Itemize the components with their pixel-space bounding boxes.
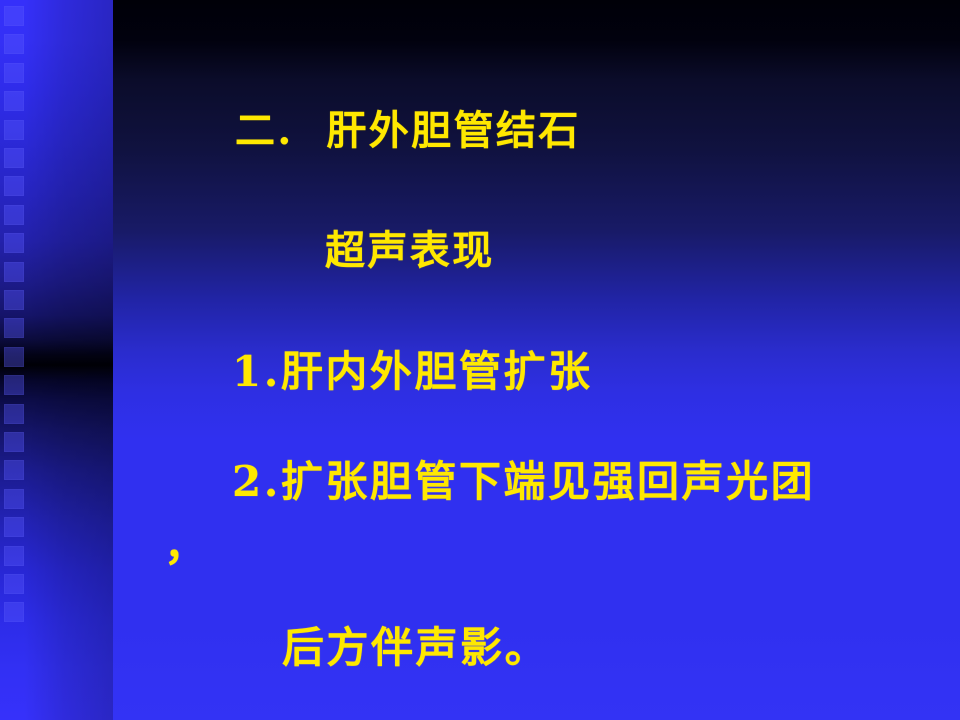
- slide-canvas: 二. 肝外胆管结石 超声表现 1.肝内外胆管扩张 2.扩张胆管下端见强回声光团 …: [0, 0, 960, 720]
- slide-bullet-2: 2.扩张胆管下端见强回声光团: [232, 448, 815, 509]
- slide-text-body: 二. 肝外胆管结石 超声表现 1.肝内外胆管扩张 2.扩张胆管下端见强回声光团 …: [0, 0, 960, 720]
- slide-bullet-1: 1.肝内外胆管扩张: [232, 338, 593, 399]
- slide-bullet-2-comma: ，: [164, 512, 209, 573]
- slide-subheading: 超声表现: [325, 218, 495, 276]
- slide-bullet-2-continuation: 后方伴声影。: [282, 614, 549, 675]
- slide-heading: 二. 肝外胆管结石: [235, 98, 581, 156]
